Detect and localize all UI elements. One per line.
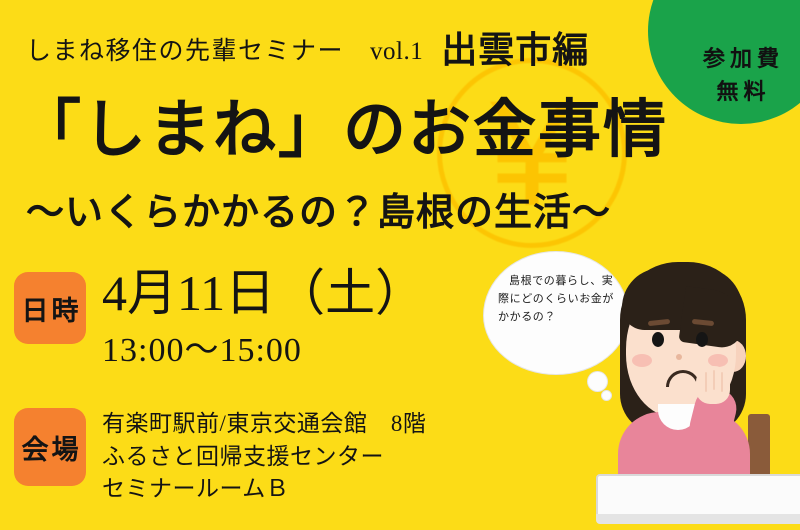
nose-shape [676, 354, 682, 360]
event-time: 13:00〜15:00 [102, 334, 425, 368]
seminar-volume: vol.1 [370, 38, 423, 66]
woman-thinking-illustration [596, 262, 800, 530]
eye-left-shape [652, 332, 664, 347]
venue-tag: 会場 [14, 408, 86, 486]
cheek-left-shape [632, 354, 652, 367]
finger-shape [705, 372, 707, 392]
free-admission-line2: 無料 [711, 75, 770, 108]
venue-line: ふるさと回帰支援センター [102, 441, 426, 474]
date-body: 4月11日（土） 13:00〜15:00 [102, 272, 425, 368]
venue-body: 有楽町駅前/東京交通会館 8階 ふるさと回帰支援センター セミナールームＢ [102, 408, 426, 506]
event-flyer: ¥ 参加費 無料 しまね移住の先輩セミナー vol.1 出雲市編 「しまね」のお… [0, 0, 800, 530]
finger-shape [713, 370, 715, 390]
finger-shape [721, 372, 723, 392]
page-subtitle: ～いくらかかるの？島根の生活～ [26, 193, 611, 231]
venue-row: 会場 有楽町駅前/東京交通会館 8階 ふるさと回帰支援センター セミナールームＢ [14, 408, 426, 506]
eye-right-shape [696, 332, 708, 347]
seminar-series-title: しまね移住の先輩セミナー [26, 31, 344, 67]
header: しまね移住の先輩セミナー vol.1 出雲市編 [26, 18, 589, 70]
free-admission-line1: 参加費 [698, 42, 784, 75]
page-title: 「しまね」のお金事情 [18, 98, 668, 161]
desk-edge-shape [596, 514, 800, 524]
free-admission-badge: 参加費 無料 [648, 0, 800, 124]
date-row: 日時 4月11日（土） 13:00〜15:00 [14, 272, 425, 368]
seminar-city-edition: 出雲市編 [441, 21, 589, 73]
event-date: 4月11日（土） [102, 268, 425, 318]
date-tag: 日時 [14, 272, 86, 344]
venue-line: 有楽町駅前/東京交通会館 8階 [102, 408, 426, 441]
venue-line: セミナールームＢ [102, 473, 426, 506]
